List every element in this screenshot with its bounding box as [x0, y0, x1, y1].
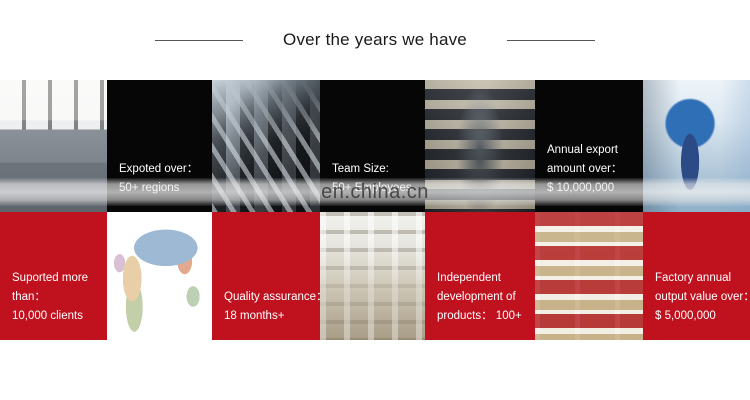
photo-world-map	[107, 212, 212, 340]
stat-line: Team Size:	[332, 160, 415, 179]
stat-panel: Suported morethan：10,000 clients	[0, 212, 107, 340]
header-rule-left-icon	[155, 40, 243, 41]
photo-open-plan-office	[320, 212, 425, 340]
stat-line: $ 10,000,000	[547, 179, 633, 198]
stat-panel: Independentdevelopment ofproducts： 100+	[425, 212, 535, 340]
stat-line: 18 months+	[224, 307, 310, 326]
page-title: Over the years we have	[283, 30, 467, 50]
stat-line: Independent	[437, 269, 525, 288]
photo-showroom-display-cabinets	[0, 80, 107, 212]
stats-band-bottom: Suported morethan：10,000 clientsQuality …	[0, 212, 750, 340]
stat-line: Expoted over：	[119, 160, 202, 179]
infographic-page: Over the years we have Expoted over：50+ …	[0, 0, 750, 400]
stat-line: development of	[437, 288, 525, 307]
photo-robotic-arm-machinery	[212, 80, 320, 212]
stat-line: Annual export	[547, 141, 633, 160]
stats-band-top: Expoted over：50+ regionsTeam Size:50+ Em…	[0, 80, 750, 212]
stat-panel: Factory annualoutput value over：$ 5,000,…	[643, 212, 750, 340]
stat-line: Quality assurance：	[224, 288, 310, 307]
stat-line: 50+ Employees	[332, 179, 415, 198]
stat-line: Suported more	[12, 269, 97, 288]
stat-panel: Annual exportamount over：$ 10,000,000	[535, 80, 643, 212]
stat-panel: Team Size:50+ Employees	[320, 80, 425, 212]
page-header: Over the years we have	[0, 18, 750, 62]
stat-panel: Expoted over：50+ regions	[107, 80, 212, 212]
stat-panel: Quality assurance：18 months+	[212, 212, 320, 340]
stat-line: Factory annual	[655, 269, 740, 288]
header-rule-right-icon	[507, 40, 595, 41]
photo-cleanroom-technician	[643, 80, 750, 212]
stat-line: output value over：	[655, 288, 740, 307]
stat-line: amount over：	[547, 160, 633, 179]
photo-stocked-shelving-racks	[535, 212, 643, 340]
stat-line: 50+ regions	[119, 179, 202, 198]
stat-line: $ 5,000,000	[655, 307, 740, 326]
stat-line: than：	[12, 288, 97, 307]
photo-warehouse-aisle	[425, 80, 535, 212]
stat-line: 10,000 clients	[12, 307, 97, 326]
stat-line: products： 100+	[437, 307, 525, 326]
